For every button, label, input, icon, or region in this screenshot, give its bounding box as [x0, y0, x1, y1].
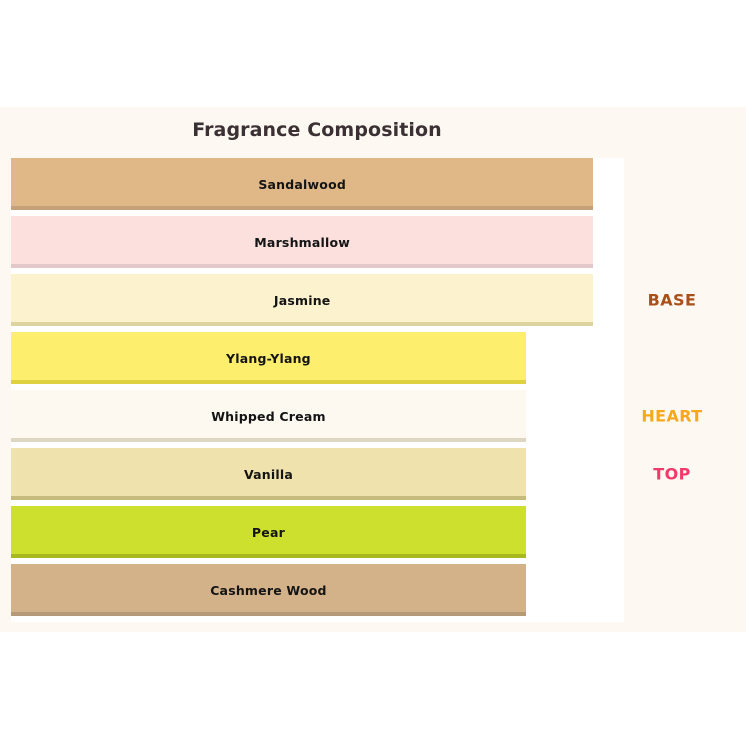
figure-canvas: Fragrance Composition SandalwoodMarshmal… [0, 107, 746, 632]
page-title: Fragrance Composition [0, 119, 634, 141]
bar-sandalwood[interactable]: Sandalwood [11, 158, 593, 210]
bar-label: Jasmine [11, 274, 593, 326]
bar-label: Ylang-Ylang [11, 332, 526, 384]
bar-whipped-cream[interactable]: Whipped Cream [11, 390, 526, 442]
bar-label: Vanilla [11, 448, 526, 500]
bar-label: Cashmere Wood [11, 564, 526, 616]
bar-label: Sandalwood [11, 158, 593, 210]
bar-label: Marshmallow [11, 216, 593, 268]
plot-area: SandalwoodMarshmallowJasmineYlang-YlangW… [11, 158, 624, 622]
bar-jasmine[interactable]: Jasmine [11, 274, 593, 326]
bar-label: Whipped Cream [11, 390, 526, 442]
bar-label: Pear [11, 506, 526, 558]
stage-label-heart: HEART [641, 407, 702, 426]
stage-label-base: BASE [648, 291, 697, 310]
bar-pear[interactable]: Pear [11, 506, 526, 558]
bar-cashmere-wood[interactable]: Cashmere Wood [11, 564, 526, 616]
stage-label-top: TOP [653, 465, 690, 484]
bar-marshmallow[interactable]: Marshmallow [11, 216, 593, 268]
bar-vanilla[interactable]: Vanilla [11, 448, 526, 500]
bar-ylang-ylang[interactable]: Ylang-Ylang [11, 332, 526, 384]
